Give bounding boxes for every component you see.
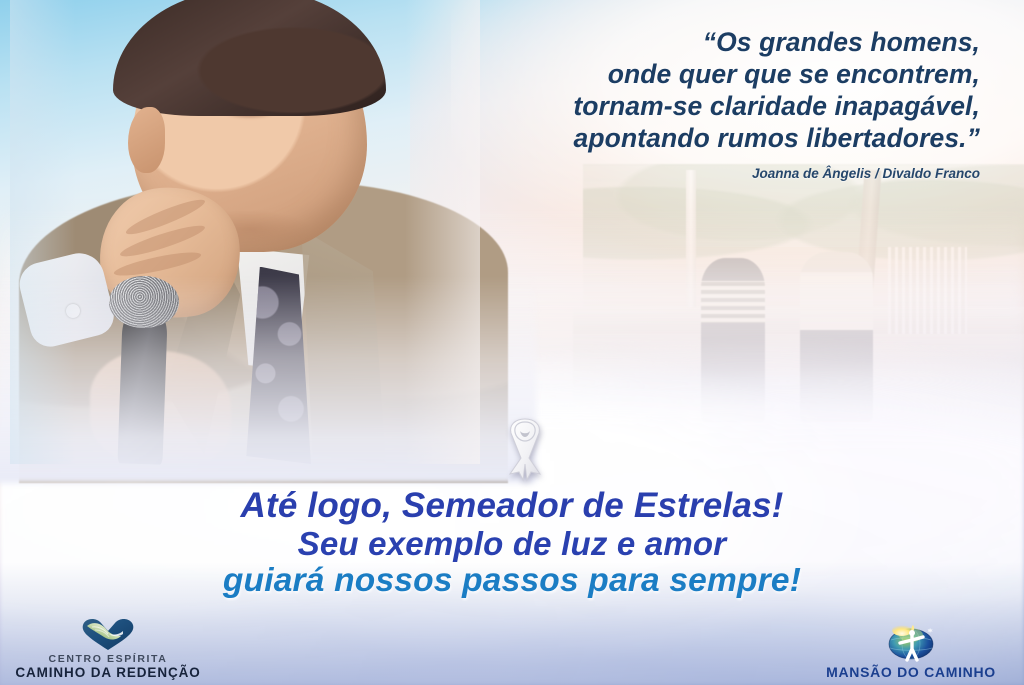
mourning-ribbon-icon (497, 412, 553, 484)
headline-line-3: guiará nossos passos para sempre! (0, 562, 1024, 600)
portrait-edge-fade (10, 0, 480, 464)
logo-mansao-do-caminho: MANSÃO DO CAMINHO (806, 622, 1016, 681)
logo-left-line-2: CAMINHO DA REDENÇÃO (8, 665, 208, 681)
logo-left-line-1: CENTRO ESPÍRITA (8, 653, 208, 665)
headline-block: Até logo, Semeador de Estrelas! Seu exem… (0, 486, 1024, 600)
globe-figure-icon (885, 622, 937, 662)
headline-line-2: Seu exemplo de luz e amor (0, 525, 1024, 562)
quote-line-1: “Os grandes homens, (420, 26, 980, 58)
portrait-divaldo-franco (10, 0, 480, 464)
heart-hands-icon (79, 617, 137, 651)
logo-right-line-1: MANSÃO DO CAMINHO (806, 664, 1016, 681)
quote-attribution: Joanna de Ângelis / Divaldo Franco (420, 166, 980, 181)
quote-line-3: tornam-se claridade inapagável, (420, 90, 980, 122)
memorial-poster: “Os grandes homens, onde quer que se enc… (0, 0, 1024, 685)
logo-centro-espirita-caminho-da-redencao: CENTRO ESPÍRITA CAMINHO DA REDENÇÃO (8, 617, 208, 681)
quote-block: “Os grandes homens, onde quer que se enc… (420, 26, 980, 181)
headline-line-1: Até logo, Semeador de Estrelas! (0, 486, 1024, 525)
quote-line-2: onde quer que se encontrem, (420, 58, 980, 90)
quote-line-4: apontando rumos libertadores.” (420, 122, 980, 154)
